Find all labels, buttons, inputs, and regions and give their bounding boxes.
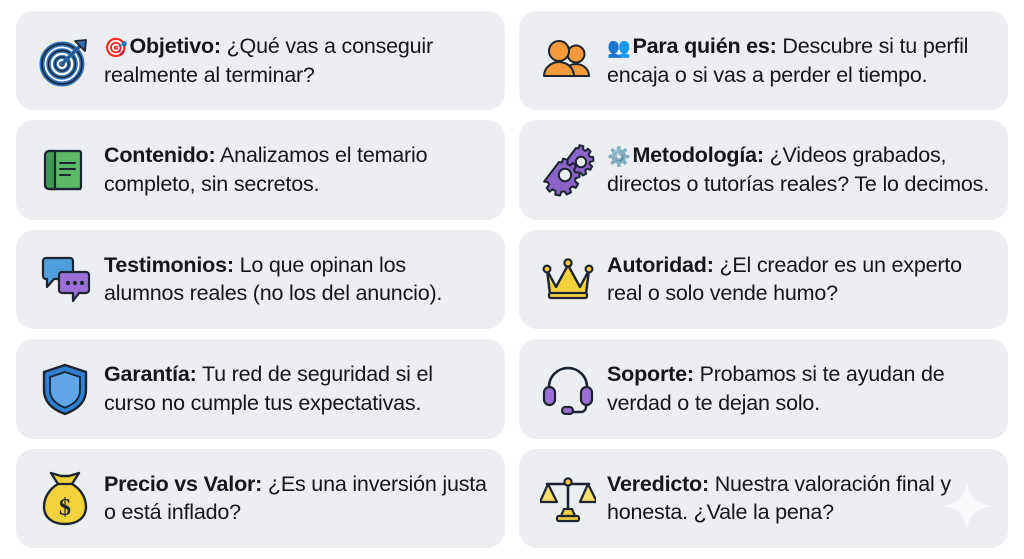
checklist-grid: 🎯Objetivo: ¿Qué vas a conseguir realment…: [0, 0, 1024, 559]
card-text: 🎯Objetivo: ¿Qué vas a conseguir realment…: [100, 32, 489, 90]
book-icon: [30, 139, 100, 201]
card-emoji: 👥: [607, 38, 630, 59]
crown-icon: [533, 248, 603, 310]
card-contenido[interactable]: Contenido: Analizamos el temario complet…: [16, 120, 505, 219]
card-headset[interactable]: Soporte: Probamos si te ayudan de verdad…: [519, 339, 1008, 438]
card-emoji: ⚙️: [607, 147, 630, 168]
card-autoridad[interactable]: Autoridad: ¿El creador es un experto rea…: [519, 230, 1008, 329]
card-precio-vs-valor[interactable]: $ Precio vs Valor: ¿Es una inversión jus…: [16, 449, 505, 548]
card-objetivo[interactable]: 🎯Objetivo: ¿Qué vas a conseguir realment…: [16, 11, 505, 110]
card-text: Contenido: Analizamos el temario complet…: [100, 141, 489, 199]
card-text: Garantía: Tu red de seguridad si el curs…: [100, 360, 489, 418]
target-icon: [30, 30, 100, 92]
card-lead: Objetivo:: [129, 34, 220, 58]
card-text: Testimonios: Lo que opinan los alumnos r…: [100, 251, 489, 309]
card-veredicto[interactable]: Veredicto: Nuestra valoración final y ho…: [519, 449, 1008, 548]
card-emoji: 🎯: [104, 38, 127, 59]
card-lead: Metodología:: [632, 143, 763, 167]
card-text: Autoridad: ¿El creador es un experto rea…: [603, 251, 992, 309]
svg-text:$: $: [59, 495, 71, 521]
card-text: Precio vs Valor: ¿Es una inversión justa…: [100, 470, 489, 528]
card-lead: Autoridad:: [607, 253, 714, 277]
card-lead: Precio vs Valor:: [104, 472, 262, 496]
headset-icon: [533, 358, 603, 420]
card-testimonios[interactable]: Testimonios: Lo que opinan los alumnos r…: [16, 230, 505, 329]
shield-icon: [30, 358, 100, 420]
card-text: ⚙️Metodología: ¿Videos grabados, directo…: [603, 141, 992, 199]
scales-icon: [533, 467, 603, 529]
card-text: 👥Para quién es: Descubre si tu perfil en…: [603, 32, 992, 90]
card-lead: Para quién es:: [632, 34, 776, 58]
card-lead: Contenido:: [104, 143, 215, 167]
card-text: Veredicto: Nuestra valoración final y ho…: [603, 470, 992, 528]
chat-bubbles-icon: [30, 248, 100, 310]
card-lead: Veredicto:: [607, 472, 709, 496]
card-lead: Garantía:: [104, 362, 197, 386]
card-metodologia[interactable]: ⚙️Metodología: ¿Videos grabados, directo…: [519, 120, 1008, 219]
people-icon: [533, 30, 603, 92]
gears-icon: [533, 139, 603, 201]
card-lead: Soporte:: [607, 362, 694, 386]
card-text: Soporte: Probamos si te ayudan de verdad…: [603, 360, 992, 418]
money-bag-icon: $: [30, 467, 100, 529]
card-para-quien-es[interactable]: 👥Para quién es: Descubre si tu perfil en…: [519, 11, 1008, 110]
card-garantia[interactable]: Garantía: Tu red de seguridad si el curs…: [16, 339, 505, 438]
card-lead: Testimonios:: [104, 253, 234, 277]
